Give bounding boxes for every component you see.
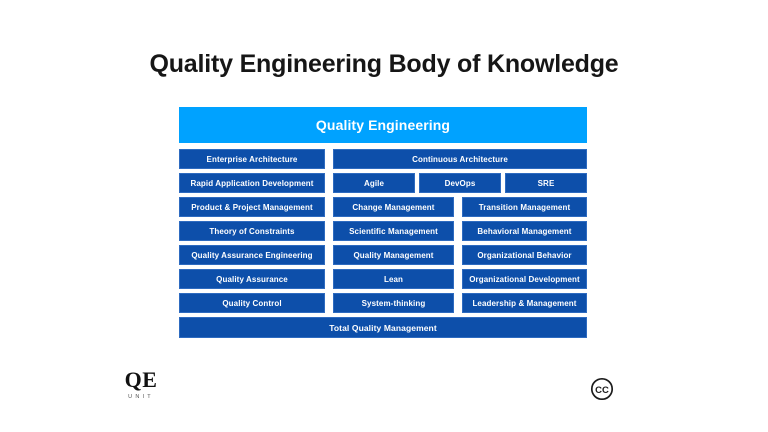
qe-unit-logo: QE UNIT <box>113 369 169 400</box>
diagram-row-3: Product & Project Management Change Mana… <box>179 197 587 217</box>
logo-subtitle-text: UNIT <box>113 394 169 400</box>
cell-continuous-architecture[interactable]: Continuous Architecture <box>333 149 587 169</box>
diagram-row-1: Enterprise Architecture Continuous Archi… <box>179 149 587 169</box>
diagram-row-4: Theory of Constraints Scientific Managem… <box>179 221 587 241</box>
svg-text:CC: CC <box>595 385 609 396</box>
cell-transition-management[interactable]: Transition Management <box>462 197 587 217</box>
cell-behavioral-management[interactable]: Behavioral Management <box>462 221 587 241</box>
cell-organizational-development[interactable]: Organizational Development <box>462 269 587 289</box>
logo-mark-text: QE <box>113 369 169 391</box>
quality-engineering-header: Quality Engineering <box>179 107 587 143</box>
diagram-row-2: Rapid Application Development Agile DevO… <box>179 173 587 193</box>
creative-commons-icon: CC <box>590 377 614 401</box>
cell-quality-assurance-engineering[interactable]: Quality Assurance Engineering <box>179 245 325 265</box>
cell-lean[interactable]: Lean <box>333 269 454 289</box>
diagram-row-7: Quality Control System-thinking Leadersh… <box>179 293 587 313</box>
diagram-row-5: Quality Assurance Engineering Quality Ma… <box>179 245 587 265</box>
cell-devops[interactable]: DevOps <box>419 173 501 193</box>
cell-theory-of-constraints[interactable]: Theory of Constraints <box>179 221 325 241</box>
cell-agile[interactable]: Agile <box>333 173 415 193</box>
cell-leadership-management[interactable]: Leadership & Management <box>462 293 587 313</box>
page-title: Quality Engineering Body of Knowledge <box>0 50 768 79</box>
cell-quality-control[interactable]: Quality Control <box>179 293 325 313</box>
diagram-row-6: Quality Assurance Lean Organizational De… <box>179 269 587 289</box>
cell-change-management[interactable]: Change Management <box>333 197 454 217</box>
cell-quality-assurance[interactable]: Quality Assurance <box>179 269 325 289</box>
cell-enterprise-architecture[interactable]: Enterprise Architecture <box>179 149 325 169</box>
cell-quality-management[interactable]: Quality Management <box>333 245 454 265</box>
cell-organizational-behavior[interactable]: Organizational Behavior <box>462 245 587 265</box>
body-of-knowledge-diagram: Quality Engineering Enterprise Architect… <box>179 107 587 338</box>
cell-sre[interactable]: SRE <box>505 173 587 193</box>
cell-rapid-application-development[interactable]: Rapid Application Development <box>179 173 325 193</box>
cell-scientific-management[interactable]: Scientific Management <box>333 221 454 241</box>
diagram-row-2-subgroup: Agile DevOps SRE <box>333 173 587 193</box>
cell-system-thinking[interactable]: System-thinking <box>333 293 454 313</box>
cell-product-project-management[interactable]: Product & Project Management <box>179 197 325 217</box>
cell-total-quality-management[interactable]: Total Quality Management <box>179 317 587 338</box>
slide-canvas: Quality Engineering Body of Knowledge Qu… <box>0 0 768 432</box>
